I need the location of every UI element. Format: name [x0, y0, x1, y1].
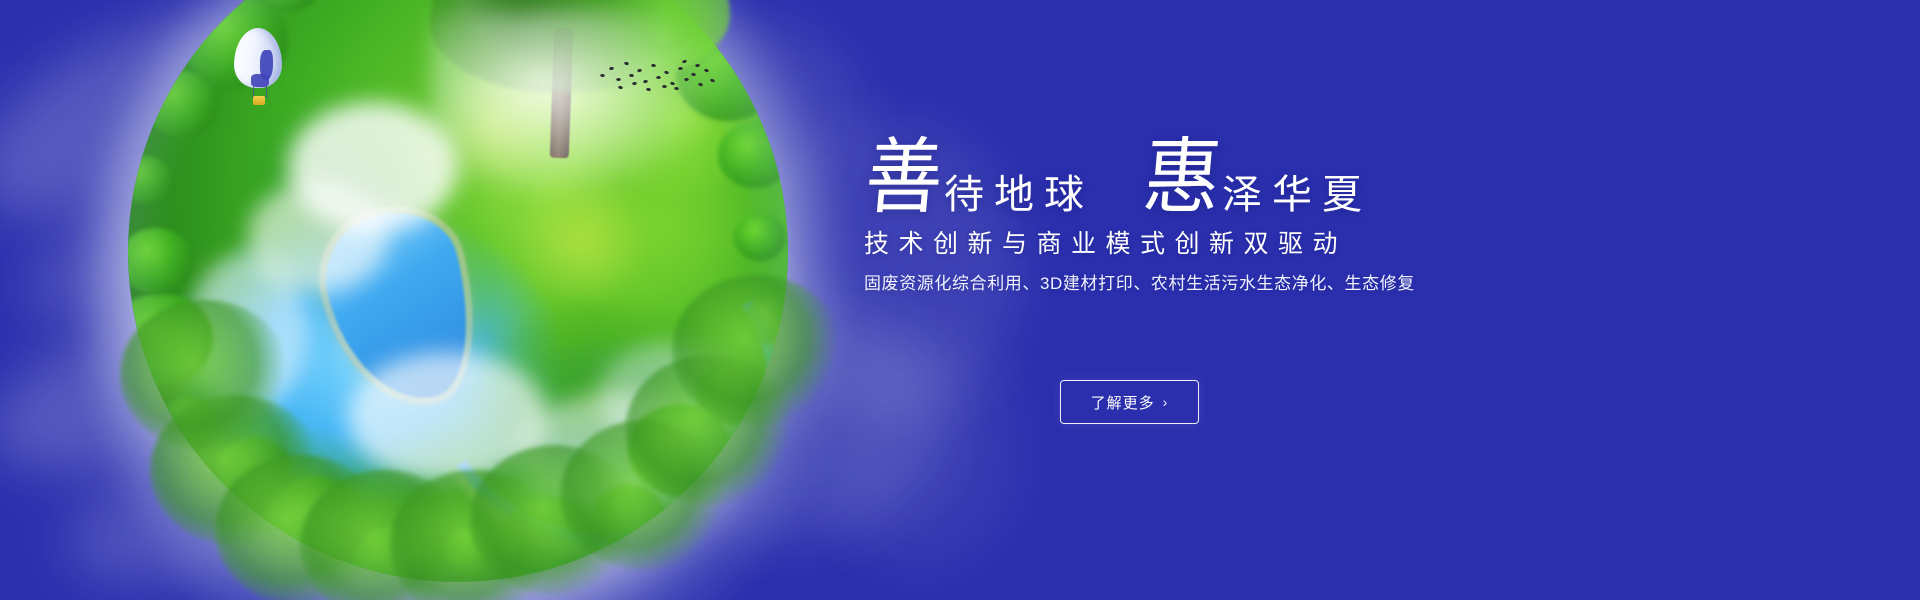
- planet-bush: [128, 228, 193, 294]
- bird: [651, 64, 656, 67]
- bird: [670, 81, 676, 85]
- bird: [629, 74, 634, 78]
- learn-more-button[interactable]: 了解更多 ›: [1060, 380, 1199, 424]
- planet-bush: [250, 0, 324, 11]
- bird: [609, 67, 614, 71]
- bird: [643, 80, 648, 84]
- headline-char-2: 惠: [1140, 137, 1224, 220]
- bird: [600, 74, 605, 78]
- chevron-right-icon: ›: [1163, 395, 1169, 409]
- banner-description: 固废资源化综合利用、3D建材打印、农村生活污水生态净化、生态修复: [864, 272, 1415, 296]
- bird: [637, 68, 643, 72]
- planet-tree: [120, 300, 290, 450]
- bird: [674, 87, 679, 91]
- tree-mist: [430, 10, 720, 200]
- bird: [646, 88, 651, 92]
- bird: [656, 76, 661, 79]
- learn-more-label: 了解更多: [1091, 392, 1155, 413]
- bird: [682, 59, 688, 63]
- headline-char-1: 善: [862, 137, 946, 220]
- planet-bush: [128, 156, 172, 204]
- bird: [632, 82, 637, 86]
- banner-content: 善 待地球 惠 泽华夏 技术创新与商业模式创新双驱动 固废资源化综合利用、3D建…: [862, 0, 1762, 600]
- planet-tree: [672, 275, 842, 425]
- planet-lake: [312, 198, 489, 415]
- headline-text-2: 泽华夏: [1222, 175, 1372, 220]
- planet-bush: [734, 213, 786, 261]
- bird: [618, 85, 624, 89]
- bird: [691, 73, 696, 76]
- hot-air-balloon-icon: [234, 28, 282, 106]
- bird: [710, 78, 716, 82]
- bird: [662, 85, 667, 88]
- headline-text-1: 待地球: [944, 175, 1094, 220]
- bird: [616, 78, 621, 81]
- bird: [704, 68, 710, 72]
- hero-banner: 善 待地球 惠 泽华夏 技术创新与商业模式创新双驱动 固废资源化综合利用、3D建…: [0, 0, 1920, 600]
- bird: [664, 70, 670, 74]
- bird: [678, 67, 683, 71]
- bird: [684, 78, 689, 81]
- birds-icon: [596, 52, 716, 96]
- banner-headline: 善 待地球 惠 泽华夏: [862, 136, 1372, 220]
- bird: [695, 64, 700, 68]
- banner-subtitle: 技术创新与商业模式创新双驱动: [864, 229, 1347, 259]
- bird: [624, 61, 630, 65]
- planet-bush: [145, 71, 219, 137]
- bird: [698, 82, 704, 86]
